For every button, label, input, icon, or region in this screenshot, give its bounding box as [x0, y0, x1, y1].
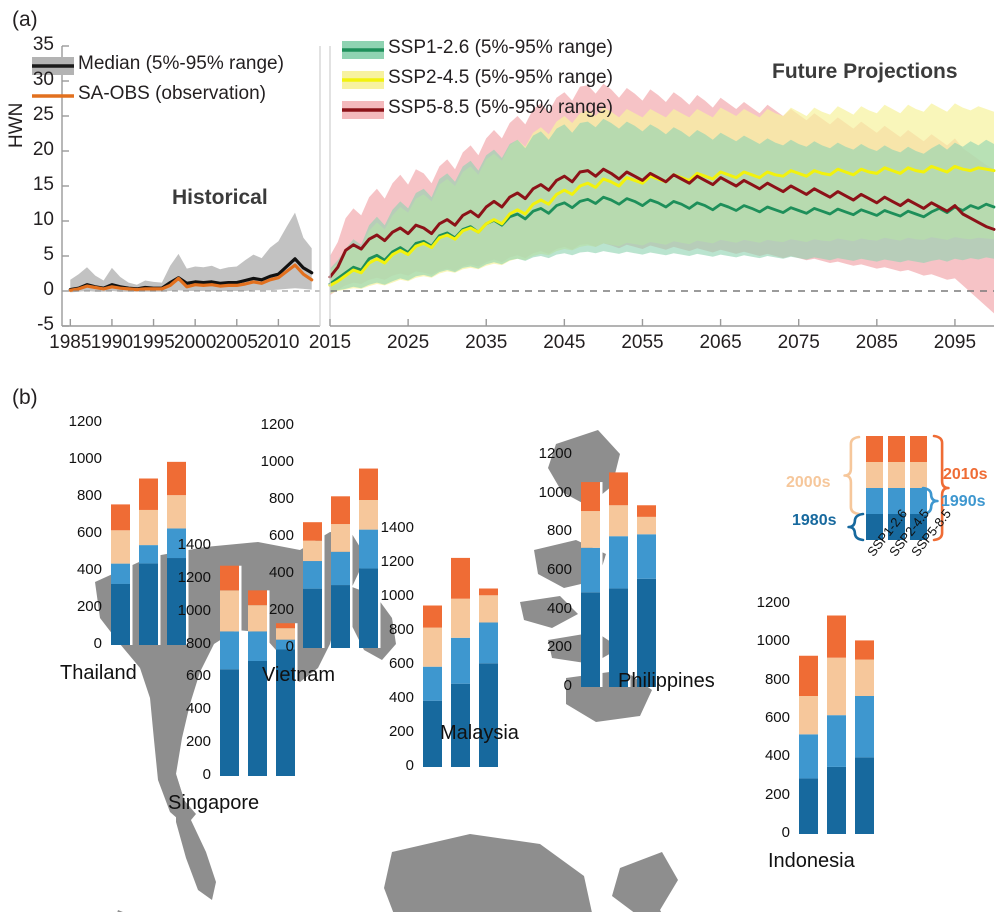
- panel-a-xtick: 2095: [920, 332, 990, 354]
- bar-segment: [111, 564, 130, 584]
- bar-segment: [423, 628, 442, 667]
- bar-segment: [827, 658, 846, 716]
- panel-b-map-and-bars: [0, 382, 1004, 912]
- bar-segment: [827, 715, 846, 767]
- bar-segment: [479, 663, 498, 767]
- legend-brace: [849, 514, 863, 540]
- bar-segment: [609, 505, 628, 536]
- panel-a-ytick: 0: [10, 279, 54, 301]
- future-projections-label: Future Projections: [772, 60, 958, 84]
- bar-segment: [855, 640, 874, 659]
- panel-b-ytick: 1000: [522, 484, 572, 501]
- panel-b-ytick: 400: [364, 689, 414, 706]
- bar-gap: [350, 496, 353, 648]
- panel-b-ytick: 200: [522, 638, 572, 655]
- country-label-singapore: Singapore: [168, 792, 259, 815]
- historical-label: Historical: [172, 186, 268, 210]
- legend-bar-segment: [910, 436, 927, 462]
- panel-a-xtick: 2045: [529, 332, 599, 354]
- bar-segment: [331, 552, 350, 585]
- panel-a-xtick: 2065: [686, 332, 756, 354]
- panel-a-xtick: 2055: [607, 332, 677, 354]
- bar-segment: [139, 510, 158, 545]
- bar-gap: [600, 482, 603, 687]
- bar-segment: [637, 534, 656, 578]
- panel-b-ytick: 1000: [364, 587, 414, 604]
- panel-b-ytick: 1000: [161, 602, 211, 619]
- bar-segment: [479, 589, 498, 596]
- bar-segment: [303, 561, 322, 589]
- bar-segment: [581, 592, 600, 687]
- panel-a-ytick: 25: [10, 104, 54, 126]
- panel-b-ytick: 200: [244, 601, 294, 618]
- bar-segment: [827, 767, 846, 834]
- bar-segment: [111, 504, 130, 530]
- legend-brace: [845, 437, 859, 514]
- legend-bar-segment: [866, 488, 883, 514]
- bar-segment: [139, 545, 158, 564]
- bar-segment: [331, 585, 350, 648]
- bar-segment: [331, 524, 350, 552]
- panel-b-ytick: 400: [244, 564, 294, 581]
- bar-segment: [111, 530, 130, 563]
- legend-bar-segment: [866, 462, 883, 488]
- bar-segment: [220, 590, 239, 631]
- bar-segment: [799, 656, 818, 696]
- panel-b-ytick: 0: [740, 824, 790, 841]
- legend-decade-1980s: 1980s: [792, 512, 837, 530]
- bar-segment: [799, 696, 818, 734]
- bar-segment: [111, 584, 130, 645]
- bar-segment: [167, 462, 186, 495]
- panel-b-ytick: 200: [52, 598, 102, 615]
- panel-b-ytick: 600: [522, 561, 572, 578]
- panel-b-ytick: 600: [364, 655, 414, 672]
- panel-b-ytick: 1400: [364, 519, 414, 536]
- bar-segment: [637, 517, 656, 534]
- panel-a-legend-label: SA-OBS (observation): [78, 83, 266, 105]
- bar-segment: [451, 638, 470, 684]
- bar-segment: [303, 522, 322, 541]
- panel-b-ytick: 400: [522, 600, 572, 617]
- panel-b-ytick: 800: [364, 621, 414, 638]
- panel-b-ytick: 1200: [244, 416, 294, 433]
- panel-b-ytick: 1000: [244, 453, 294, 470]
- panel-a-ytick: 35: [10, 34, 54, 56]
- legend-bar-segment: [910, 462, 927, 488]
- bar-segment: [167, 495, 186, 528]
- bar-gap: [158, 479, 161, 646]
- bar-segment: [139, 479, 158, 510]
- legend-bar-segment: [888, 436, 905, 462]
- panel-b-ytick: 800: [244, 490, 294, 507]
- panel-b-ytick: 800: [740, 671, 790, 688]
- bar-segment: [139, 564, 158, 645]
- bar-segment: [451, 599, 470, 638]
- bar-segment: [451, 558, 470, 599]
- bar-segment: [637, 505, 656, 517]
- panel-b-ytick: 600: [52, 524, 102, 541]
- country-label-philippines: Philippines: [618, 670, 715, 693]
- bar-segment: [609, 472, 628, 505]
- map-landmass: [384, 834, 594, 912]
- panel-a-ytick: 15: [10, 174, 54, 196]
- country-label-indonesia: Indonesia: [768, 850, 855, 873]
- panel-a-legend-label: SSP2-4.5 (5%-95% range): [388, 67, 613, 89]
- legend-decade-2010s: 2010s: [943, 466, 988, 484]
- panel-b-ytick: 1200: [522, 445, 572, 462]
- bar-segment: [303, 541, 322, 561]
- panel-b-ytick: 400: [161, 700, 211, 717]
- panel-b-ytick: 600: [161, 667, 211, 684]
- panel-a-ytick: 10: [10, 209, 54, 231]
- panel-a-legend-label: SSP1-2.6 (5%-95% range): [388, 37, 613, 59]
- bar-segment: [220, 566, 239, 591]
- bar-segment: [827, 616, 846, 658]
- bar-segment: [479, 623, 498, 664]
- panel-a-legend-label: Median (5%-95% range): [78, 53, 284, 75]
- panel-a-legend-label: SSP5-8.5 (5%-95% range): [388, 97, 613, 119]
- panel-a-xtick: 2015: [295, 332, 365, 354]
- bar-gap: [239, 566, 242, 776]
- bar-segment: [276, 623, 295, 628]
- country-label-thailand: Thailand: [60, 662, 137, 685]
- country-label-vietnam: Vietnam: [262, 664, 335, 687]
- panel-b-ytick: 800: [522, 522, 572, 539]
- bar-segment: [855, 660, 874, 696]
- panel-b-ytick: 1400: [161, 536, 211, 553]
- bar-segment: [331, 496, 350, 524]
- panel-b-ytick: 0: [364, 757, 414, 774]
- panel-b-ytick: 200: [740, 786, 790, 803]
- panel-b-ytick: 200: [364, 723, 414, 740]
- bar-segment: [479, 595, 498, 622]
- panel-a-xtick: 2025: [373, 332, 443, 354]
- bar-gap: [874, 640, 877, 834]
- panel-a-xtick: 2035: [451, 332, 521, 354]
- legend-decade-2000s: 2000s: [786, 474, 831, 492]
- bar-segment: [581, 548, 600, 592]
- figure-root: (a) HWN Historical Future Projections (b…: [0, 0, 1004, 912]
- bar-segment: [303, 589, 322, 648]
- panel-b-ytick: 800: [161, 635, 211, 652]
- panel-a-xtick: 2075: [764, 332, 834, 354]
- panel-b-ytick: 800: [52, 487, 102, 504]
- bar-segment: [581, 482, 600, 511]
- panel-b-ytick: 600: [244, 527, 294, 544]
- panel-a-ytick: 30: [10, 69, 54, 91]
- bar-segment: [359, 469, 378, 500]
- country-label-malaysia: Malaysia: [440, 722, 519, 745]
- panel-b-ytick: 600: [740, 709, 790, 726]
- panel-b-ytick: 0: [522, 677, 572, 694]
- bar-segment: [220, 631, 239, 669]
- panel-a-xtick: 2085: [842, 332, 912, 354]
- panel-b-ytick: 1000: [740, 632, 790, 649]
- bar-gap: [656, 505, 659, 687]
- panel-b-ytick: 1000: [52, 450, 102, 467]
- panel-b-ytick: 0: [52, 635, 102, 652]
- panel-a-ytick: 20: [10, 139, 54, 161]
- bar-segment: [581, 511, 600, 548]
- panel-b-ytick: 1200: [52, 413, 102, 430]
- bar-segment: [220, 669, 239, 776]
- panel-b-ytick: 1200: [740, 594, 790, 611]
- bar-gap: [628, 472, 631, 687]
- bar-segment: [855, 757, 874, 834]
- bar-segment: [609, 536, 628, 588]
- bar-gap: [322, 522, 325, 648]
- panel-b-ytick: 1200: [364, 553, 414, 570]
- panel-b-ytick: 0: [161, 766, 211, 783]
- panel-b-ytick: 200: [161, 733, 211, 750]
- panel-a-ytick: 5: [10, 244, 54, 266]
- panel-b-ytick: 400: [740, 747, 790, 764]
- bar-segment: [799, 734, 818, 778]
- bar-gap: [130, 504, 133, 645]
- bar-segment: [799, 778, 818, 834]
- bar-gap: [818, 656, 821, 834]
- legend-decade-1990s: 1990s: [941, 493, 986, 511]
- bar-gap: [295, 623, 298, 776]
- legend-bar-segment: [866, 436, 883, 462]
- panel-b-ytick: 0: [244, 638, 294, 655]
- bar-segment: [423, 667, 442, 701]
- legend-bar-segment: [888, 462, 905, 488]
- bar-gap: [846, 616, 849, 835]
- map-landmass: [612, 852, 678, 912]
- bar-segment: [855, 696, 874, 757]
- panel-b-ytick: 1200: [161, 569, 211, 586]
- panel-b-ytick: 400: [52, 561, 102, 578]
- bar-segment: [423, 606, 442, 628]
